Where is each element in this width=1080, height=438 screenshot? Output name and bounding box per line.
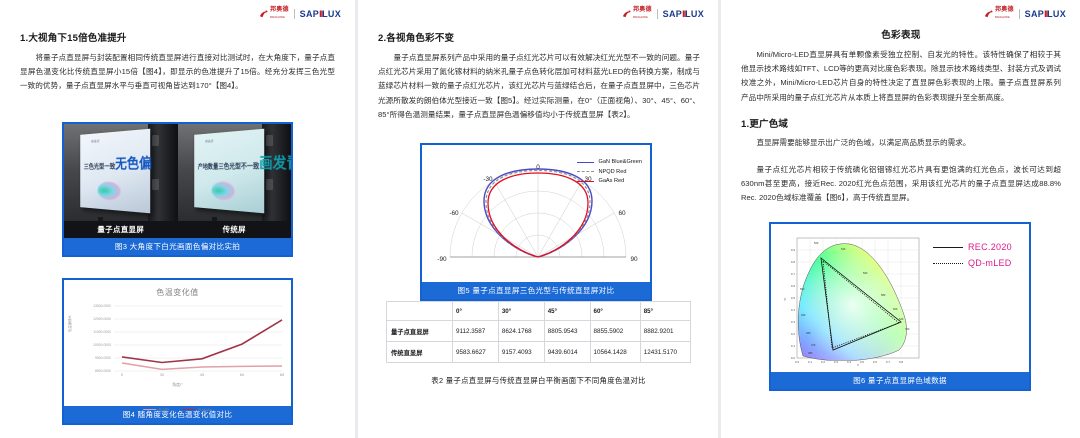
svg-text:560: 560 — [863, 271, 868, 275]
display-screen: 邦奥德 三色光型一致无色偏 — [81, 129, 151, 213]
legend-item-gaas-red: GaAs Red — [577, 178, 642, 184]
table-2: 0° 30° 45° 60° 85° 量子点直显屏 9112.3587 8624… — [386, 301, 691, 363]
figure-6: 520 540 560 580 600 620 700 500 490 480 … — [769, 222, 1031, 391]
cie-y-label: y — [784, 297, 786, 301]
svg-text:0.8: 0.8 — [791, 260, 796, 264]
figure-5-chart: -90 -60 -30 0 30 60 90 GaN Blue&Green — [422, 145, 650, 282]
legend-swatch — [933, 263, 963, 264]
legend-item-r-qd: R-QD — [143, 407, 169, 412]
section-heading-1: 1.大视角下15倍色准提升 — [20, 30, 335, 44]
svg-text:0.2: 0.2 — [821, 360, 826, 364]
screen-headline: 产地数量三色光型不一致画发青 — [198, 151, 291, 174]
table-cell: 10564.1428 — [590, 342, 640, 363]
logo-cn-name: 邦奥德 BANGAODE — [633, 7, 652, 21]
brand-logo-3: 邦奥德 BANGAODE SAPIILUX — [984, 7, 1066, 21]
legend-swatch — [933, 247, 963, 248]
legend-label: QD-mLED — [968, 258, 1012, 268]
svg-text:0.0: 0.0 — [795, 360, 800, 364]
gridlines — [114, 306, 282, 371]
mount-bracket-icon — [266, 135, 273, 146]
display-screen: 邦奥德 产地数量三色光型不一致画发青 — [194, 129, 264, 213]
photo-label-row: 量子点直显屏 传统屏 — [64, 221, 291, 238]
svg-text:0.1: 0.1 — [808, 360, 813, 364]
svg-text:0.3: 0.3 — [834, 360, 839, 364]
logo-wordmark: SAPIILUX — [300, 9, 341, 19]
chart-plot-area: 色温偏移/K 13500.0000 12500.0000 11500.0000 … — [64, 298, 291, 390]
legend-item-npqd-red: NPQD Red — [577, 169, 642, 175]
logo-divider — [1019, 9, 1020, 19]
logo-wordmark: SAPIILUX — [1025, 9, 1066, 19]
legend-swatch — [577, 171, 594, 172]
svg-text:0.5: 0.5 — [860, 360, 865, 364]
section-heading-2: 2.各视角色彩不变 — [378, 30, 700, 44]
photo-label-right: 传统屏 — [178, 221, 292, 238]
series-line-r-gaas — [122, 320, 282, 363]
brand-logo-2: 邦奥德 BANGAODE SAPIILUX — [622, 7, 704, 21]
x-tick: 0 — [121, 372, 123, 377]
legend-item-gan-blue-green: GaN Blue&Green — [577, 159, 642, 165]
table-col-header-0 — [387, 302, 453, 321]
y-axis-ticks: 0.0 0.1 0.2 0.3 0.4 0.5 0.6 0.7 0.8 0.9 — [791, 248, 796, 360]
svg-text:520: 520 — [814, 241, 819, 245]
chart-legend: R-QD R-GaAs — [143, 407, 212, 412]
svg-text:490: 490 — [801, 313, 806, 317]
color-gradient-blob — [212, 181, 235, 201]
figure-3-caption: 图3 大角度下白光画面色偏对比实拍 — [64, 238, 291, 255]
table-row-label: 量子点直显屏 — [387, 321, 453, 342]
screen-brand-text: 邦奥德 — [92, 139, 100, 143]
svg-text:0.5: 0.5 — [791, 296, 796, 300]
logo-mark: 邦奥德 BANGAODE — [259, 7, 289, 21]
table-cell: 9157.4093 — [498, 342, 544, 363]
svg-text:0.4: 0.4 — [791, 308, 796, 312]
legend-label: REC.2020 — [968, 242, 1012, 252]
chart-x-axis-label: 角度/° — [172, 382, 183, 388]
table-header-row: 0° 30° 45° 60° 85° — [387, 302, 691, 321]
swoosh-icon — [622, 10, 631, 19]
table-cell: 9583.6627 — [453, 342, 499, 363]
figure-5-caption: 图5 量子点直显屏三色光型与传统直显屏对比 — [422, 282, 650, 299]
logo-wordmark: SAPIILUX — [663, 9, 704, 19]
series-line-r-qd — [122, 363, 282, 369]
table-row: 传统直显屏 9583.6627 9157.4093 9439.6014 1056… — [387, 342, 691, 363]
legend-swatch — [182, 409, 195, 411]
svg-text:0.2: 0.2 — [791, 332, 796, 336]
figure-4: 色温变化值 色温偏移/K 13500.0000 12500.0000 11500… — [62, 278, 293, 425]
cie-plot-area: 520 540 560 580 600 620 700 500 490 480 … — [775, 230, 925, 366]
color-gradient-blob — [98, 181, 121, 201]
svg-text:0.7: 0.7 — [886, 360, 891, 364]
svg-text:600: 600 — [893, 307, 898, 311]
table-cell: 8855.5902 — [590, 321, 640, 342]
screen-headline: 三色光型一致无色偏 — [84, 152, 152, 173]
figure-4-chart: 色温变化值 色温偏移/K 13500.0000 12500.0000 11500… — [64, 280, 291, 406]
legend-label: GaAs Red — [598, 178, 624, 184]
section-heading-3b: 1.更广色域 — [741, 116, 1061, 130]
chart-title: 色温变化值 — [64, 280, 291, 298]
page-panel-3: 邦奥德 BANGAODE SAPIILUX 色彩表现 Mini/Micro-LE… — [721, 0, 1080, 438]
screen-brand-text: 邦奥德 — [205, 139, 213, 143]
svg-text:580: 580 — [881, 293, 886, 297]
legend-swatch — [577, 181, 594, 182]
svg-text:700: 700 — [905, 327, 910, 331]
angle-tick--90: -90 — [437, 256, 447, 263]
figure-6-chart: 520 540 560 580 600 620 700 500 490 480 … — [771, 224, 1029, 372]
table-cell: 8805.9543 — [544, 321, 590, 342]
section-paragraph-2: 量子点直显屏系列产品中采用的量子点红光芯片可以有效解决红光光型不一致的问题。量子… — [378, 51, 700, 122]
logo-cn-name: 邦奥德 BANGAODE — [270, 7, 289, 21]
x-tick: 45 — [200, 372, 204, 377]
legend-item-qd-mled: QD-mLED — [933, 258, 1025, 268]
angle-tick-0: 0 — [536, 164, 540, 171]
logo-mark: 邦奥德 BANGAODE — [984, 7, 1014, 21]
figure-3-photos: 邦奥德 三色光型一致无色偏 邦奥德 产地数量三色光型不一致画发青 — [64, 124, 291, 238]
svg-text:0.3: 0.3 — [791, 320, 796, 324]
table-col-header-3: 45° — [544, 302, 590, 321]
logo-mark: 邦奥德 BANGAODE — [622, 7, 652, 21]
svg-text:620: 620 — [899, 317, 904, 321]
angle-tick--30: -30 — [483, 176, 493, 183]
svg-text:0.6: 0.6 — [873, 360, 878, 364]
swoosh-icon — [984, 10, 993, 19]
svg-text:0.6: 0.6 — [791, 284, 796, 288]
section-paragraph-3b: 直显屏需要能够显示出广泛的色域，以满足高品质显示的需求。 — [741, 136, 1061, 150]
svg-text:540: 540 — [841, 247, 846, 251]
table-col-header-2: 30° — [498, 302, 544, 321]
table-2-caption: 表2 量子点直显屏与传统直显屏白平衡画面下不同角度色温对比 — [386, 375, 691, 386]
figure-6-caption: 图6 量子点直显屏色域数据 — [771, 372, 1029, 389]
section-paragraph-1: 将量子点直显屏与封装配置相同传统直显屏进行直接对比测试时，在大角度下，量子点直显… — [20, 51, 335, 94]
angle-tick--60: -60 — [449, 210, 459, 217]
figure-5: -90 -60 -30 0 30 60 90 GaN Blue&Green — [420, 143, 652, 301]
figure-6-svg: 520 540 560 580 600 620 700 500 490 480 … — [775, 230, 925, 366]
svg-text:0.4: 0.4 — [847, 360, 852, 364]
legend-item-rec2020: REC.2020 — [933, 242, 1025, 252]
section-paragraph-3c: 量子点红光芯片相较于传统磷化铝铟镓红光芯片具有更饱满的红光色点，波长可达到超63… — [741, 163, 1061, 206]
figure-5-legend: GaN Blue&Green NPQD Red GaAs Red — [577, 159, 642, 184]
section-heading-3: 色彩表现 — [741, 27, 1061, 41]
table-cell: 8624.1768 — [498, 321, 544, 342]
table-2-block: 0° 30° 45° 60° 85° 量子点直显屏 9112.3587 8624… — [386, 301, 691, 386]
section-paragraph-3a: Mini/Micro-LED直显屏具有单颗像素受独立控制、自发光的特性。该特性确… — [741, 48, 1061, 105]
svg-text:0.7: 0.7 — [791, 272, 796, 276]
swoosh-icon — [259, 10, 268, 19]
x-tick: 85 — [280, 372, 284, 377]
cie-x-label: x — [857, 363, 859, 366]
table-cell: 9439.6014 — [544, 342, 590, 363]
document-viewport: 邦奥德 BANGAODE SAPIILUX 1.大视角下15倍色准提升 将量子点… — [0, 0, 1080, 438]
table-cell: 8882.9201 — [640, 321, 690, 342]
figure-4-svg — [64, 298, 295, 390]
brand-logo-1: 邦奥德 BANGAODE SAPIILUX — [259, 7, 341, 21]
page-panel-1: 邦奥德 BANGAODE SAPIILUX 1.大视角下15倍色准提升 将量子点… — [0, 0, 355, 438]
logo-divider — [657, 9, 658, 19]
angle-tick-60: 60 — [618, 210, 626, 217]
mount-bracket-icon — [152, 135, 159, 146]
photo-label-left: 量子点直显屏 — [64, 221, 178, 238]
table-cell: 12431.5170 — [640, 342, 690, 363]
logo-cn-name: 邦奥德 BANGAODE — [995, 7, 1014, 21]
table-col-header-5: 85° — [640, 302, 690, 321]
mount-bracket-icon — [266, 179, 273, 190]
svg-text:480: 480 — [806, 331, 811, 335]
legend-label: R-GaAs — [198, 407, 212, 412]
table-col-header-1: 0° — [453, 302, 499, 321]
svg-text:380: 380 — [808, 351, 813, 355]
x-tick: 60 — [240, 372, 244, 377]
table-row: 量子点直显屏 9112.3587 8624.1768 8805.9543 885… — [387, 321, 691, 342]
x-axis-ticks: 0.0 0.1 0.2 0.3 0.4 0.5 0.6 0.7 0.8 — [795, 360, 904, 364]
legend-label: GaN Blue&Green — [598, 159, 642, 165]
legend-swatch — [143, 409, 156, 411]
legend-label: NPQD Red — [598, 169, 626, 175]
mount-bracket-icon — [152, 179, 159, 190]
legend-label: R-QD — [159, 407, 169, 412]
page-panel-2: 邦奥德 BANGAODE SAPIILUX 2.各视角色彩不变 量子点直显屏系列… — [358, 0, 718, 438]
legend-swatch — [577, 162, 594, 163]
svg-text:0.9: 0.9 — [791, 248, 796, 252]
legend-item-r-gaas: R-GaAs — [182, 407, 212, 412]
svg-text:470: 470 — [811, 343, 816, 347]
svg-text:0.0: 0.0 — [791, 356, 796, 360]
figure-3: 邦奥德 三色光型一致无色偏 邦奥德 产地数量三色光型不一致画发青 — [62, 122, 293, 257]
x-tick: 30 — [160, 372, 164, 377]
figure-6-legend: REC.2020 QD-mLED — [925, 230, 1025, 368]
svg-text:0.1: 0.1 — [791, 344, 796, 348]
svg-text:0.8: 0.8 — [899, 360, 904, 364]
logo-divider — [294, 9, 295, 19]
angle-tick-90: 90 — [630, 256, 638, 263]
svg-text:500: 500 — [800, 287, 805, 291]
table-cell: 9112.3587 — [453, 321, 499, 342]
table-row-label: 传统直显屏 — [387, 342, 453, 363]
table-col-header-4: 60° — [590, 302, 640, 321]
